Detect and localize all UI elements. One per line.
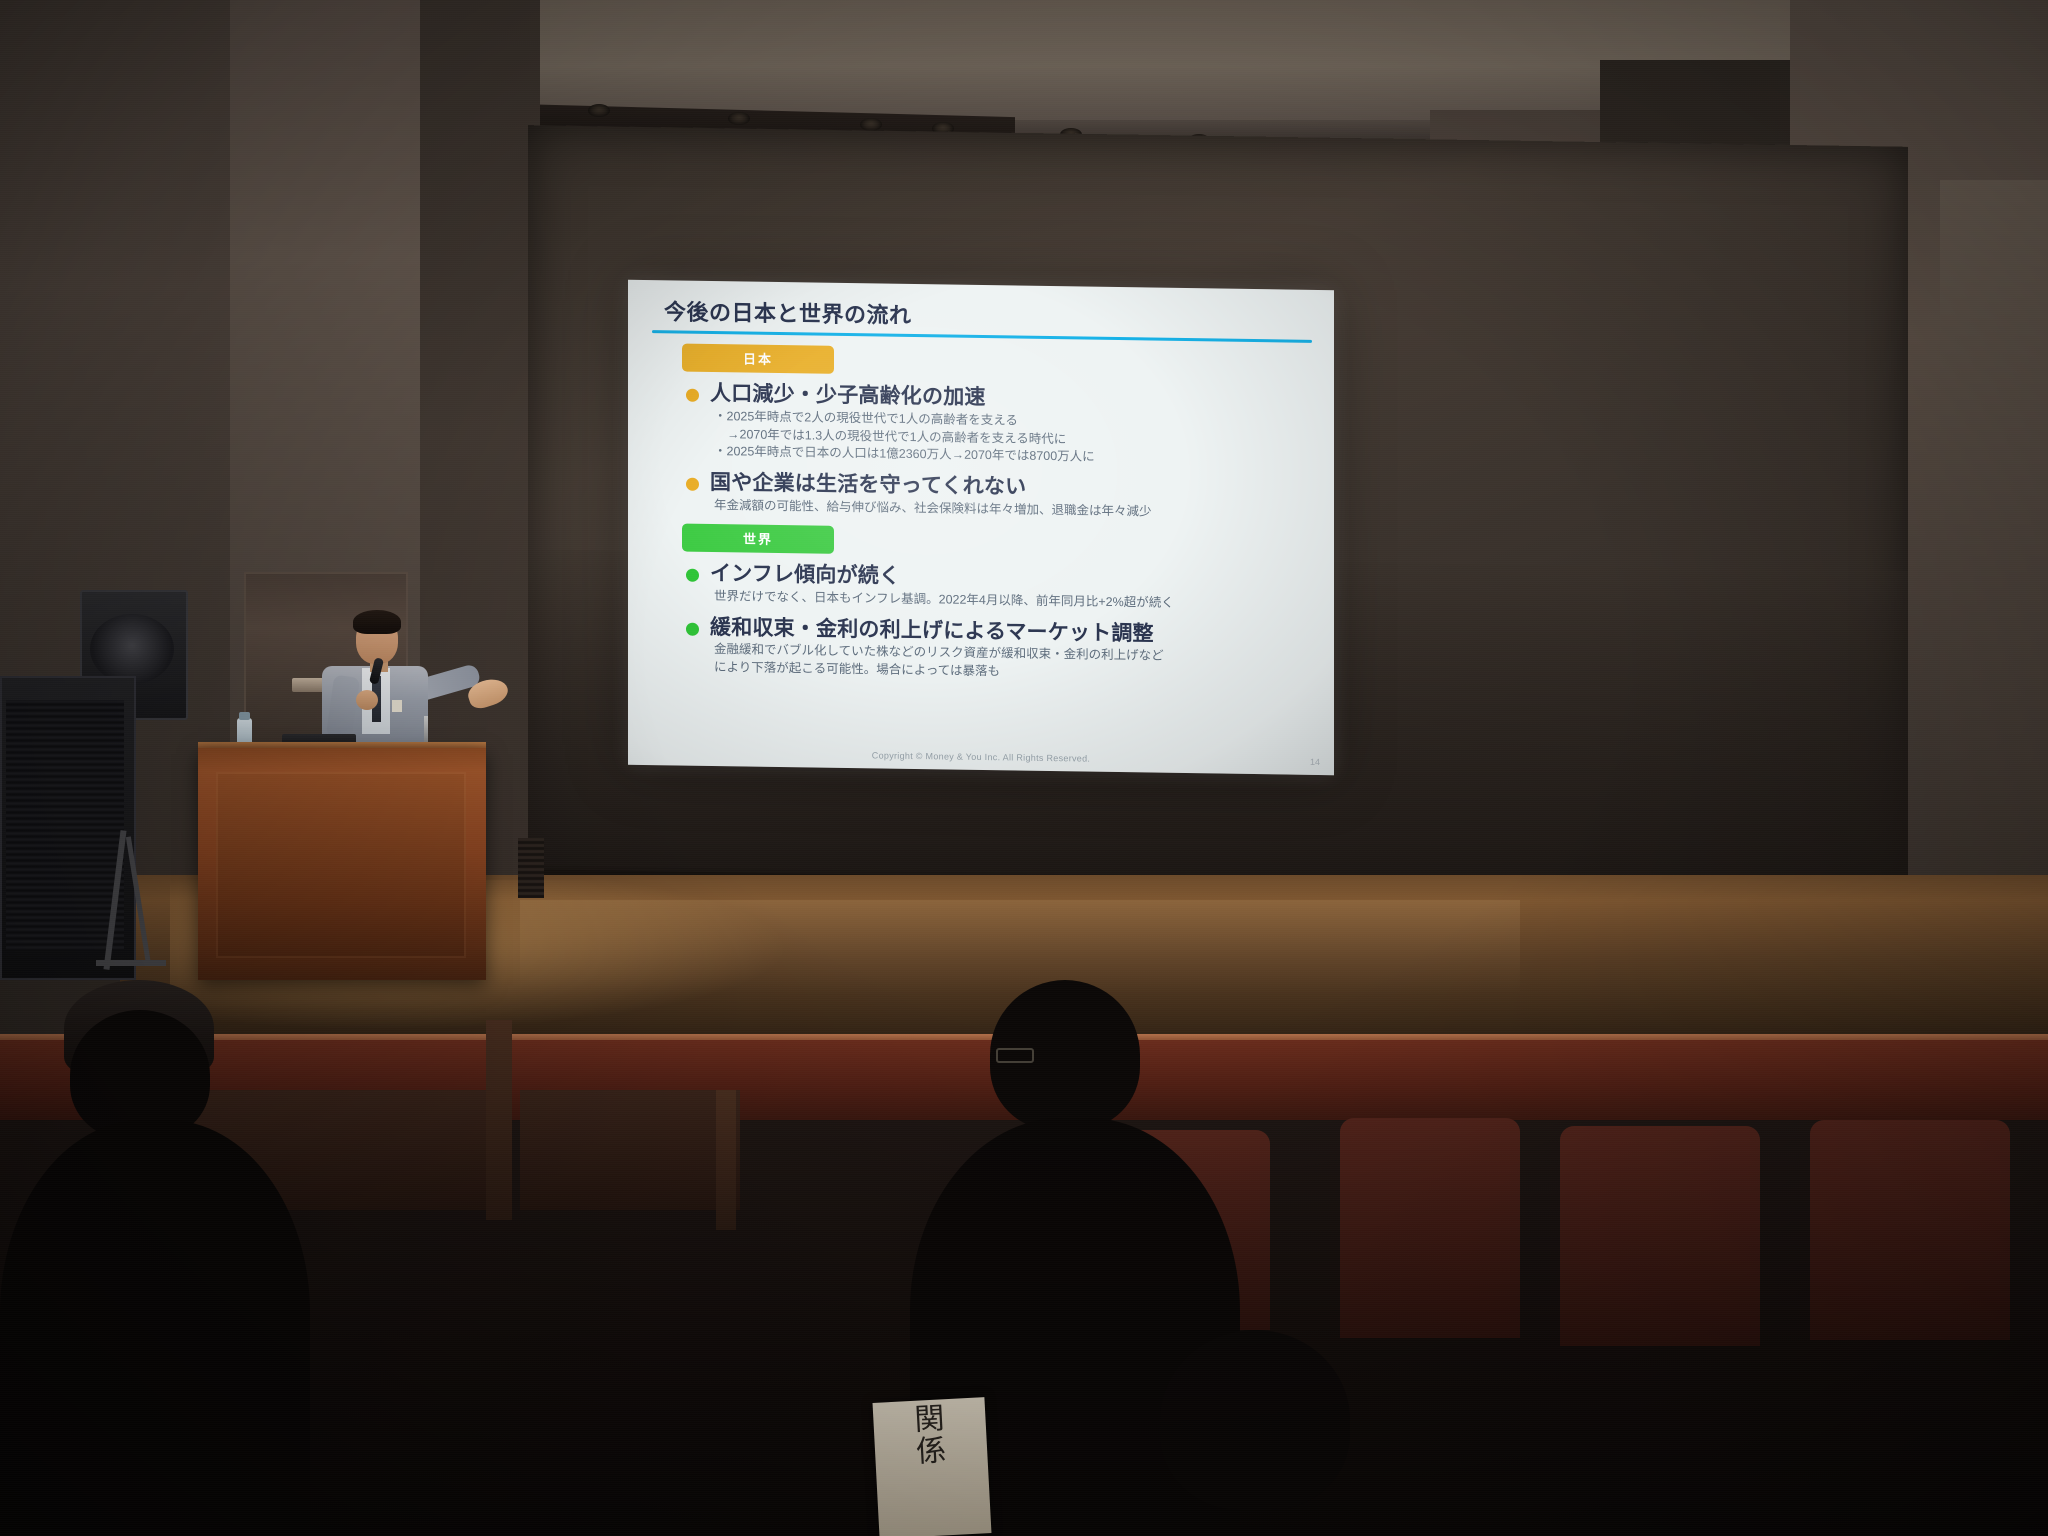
sub-line: ・2025年時点で2人の現役世代で1人の高齢者を支える bbox=[714, 409, 1018, 428]
podium-front-panel bbox=[216, 772, 466, 958]
pa-speaker-grille-icon bbox=[90, 614, 174, 684]
slide-section-world: 世界 インフレ傾向が続く 世界だけでなく、日本もインフレ基調。2022年4月以降… bbox=[650, 523, 1312, 685]
bullet-heading: 人口減少・少子高齢化の加速 bbox=[710, 381, 986, 411]
water-bottle-cap bbox=[239, 712, 250, 720]
sub-line: により下落が起こる可能性。場合によっては暴落も bbox=[714, 660, 1000, 678]
seat-divider-rail bbox=[716, 1090, 736, 1230]
handout-text: 関 係 bbox=[873, 1397, 988, 1470]
audience-head bbox=[1160, 1330, 1350, 1510]
chair-back bbox=[1810, 1120, 2010, 1340]
slide-footer-copyright: Copyright © Money & You Inc. All Rights … bbox=[628, 747, 1334, 767]
sub-line: ・2025年時点で日本の人口は1億2360万人→2070年では8700万人に bbox=[714, 444, 1095, 464]
seat-divider-rail bbox=[486, 1020, 512, 1220]
chair-back bbox=[1560, 1126, 1760, 1346]
bullet-subtext-rate-hike: 金融緩和でバブル化していた株などのリスク資産が緩和収束・金利の利上げなど により… bbox=[714, 641, 1312, 685]
presenter-hair bbox=[353, 610, 401, 634]
bullet-heading: 国や企業は生活を守ってくれない bbox=[710, 470, 1026, 500]
eyeglasses-icon bbox=[996, 1048, 1034, 1063]
audience-shoulders bbox=[0, 1120, 310, 1536]
ceiling-downlight bbox=[860, 118, 882, 131]
speaker-tripod-foot bbox=[96, 960, 166, 966]
bullet-dot-icon bbox=[686, 622, 699, 635]
bullet-heading: インフレ傾向が続く bbox=[710, 561, 900, 589]
slide-page-number: 14 bbox=[1310, 757, 1320, 767]
audience-handout: 関 係 bbox=[873, 1397, 992, 1536]
slide-section-japan: 日本 人口減少・少子高齢化の加速 ・2025年時点で2人の現役世代で1人の高齢者… bbox=[650, 343, 1312, 523]
photo-scene: 今後の日本と世界の流れ 日本 人口減少・少子高齢化の加速 ・2025年時点で2人… bbox=[0, 0, 2048, 1536]
bullet-dot-icon bbox=[686, 569, 699, 582]
bullet-subtext-population: ・2025年時点で2人の現役世代で1人の高齢者を支える →2070年では1.3人… bbox=[714, 408, 1312, 470]
pa-speaker-bottom-grille-icon bbox=[6, 700, 124, 950]
section-badge-world: 世界 bbox=[682, 524, 834, 554]
ceiling-downlight bbox=[588, 104, 610, 117]
section-badge-japan: 日本 bbox=[682, 344, 834, 374]
chair-back bbox=[1340, 1118, 1520, 1338]
presentation-slide: 今後の日本と世界の流れ 日本 人口減少・少子高齢化の加速 ・2025年時点で2人… bbox=[628, 280, 1334, 775]
ceiling-downlight bbox=[728, 112, 750, 125]
seat-row-block bbox=[520, 1090, 740, 1210]
bullet-dot-icon bbox=[686, 389, 699, 402]
slide-title: 今後の日本と世界の流れ bbox=[664, 300, 1312, 334]
bullet-dot-icon bbox=[686, 478, 699, 491]
presenter-left-hand bbox=[356, 690, 378, 710]
presenter-name-badge bbox=[392, 700, 402, 712]
wall-vent bbox=[518, 838, 544, 898]
